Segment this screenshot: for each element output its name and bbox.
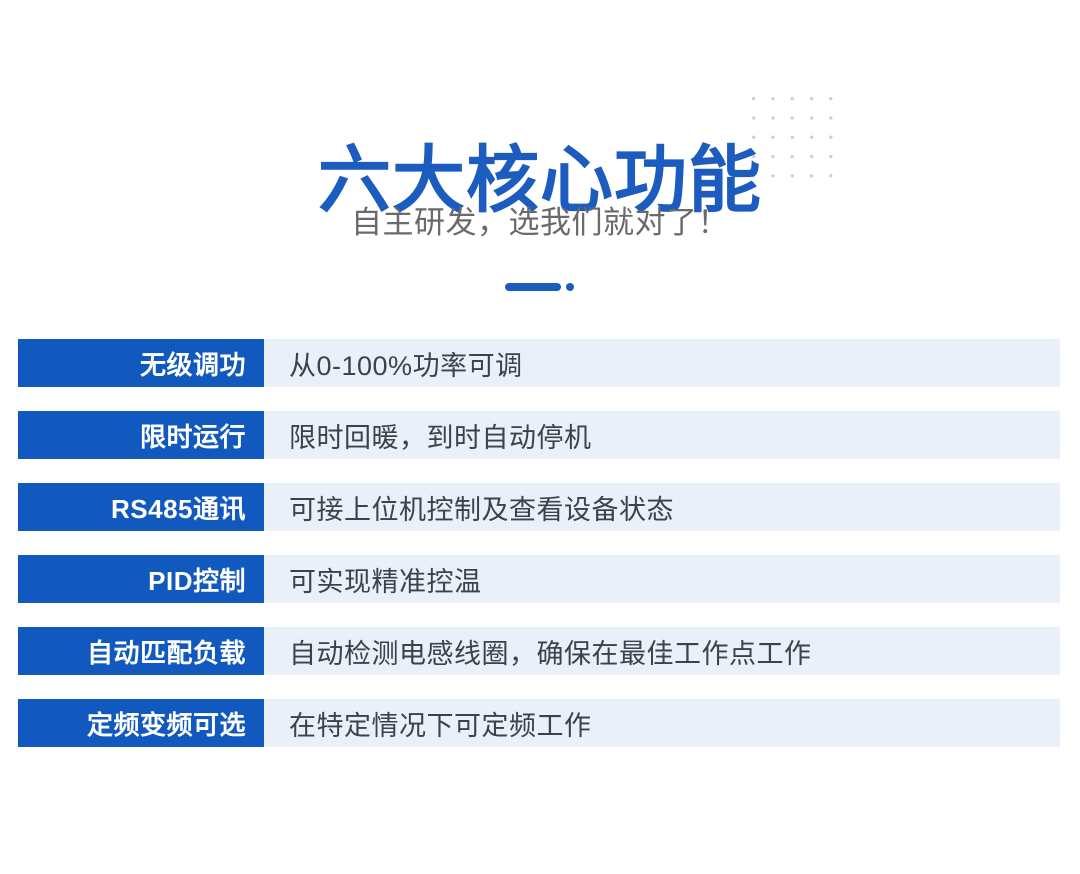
feature-description-3: 可接上位机控制及查看设备状态 (264, 483, 1060, 531)
feature-row-3: RS485通讯 可接上位机控制及查看设备状态 (18, 483, 1060, 531)
title-divider (0, 280, 1080, 294)
feature-highlight-page: 六大核心功能 自主研发，选我们就对了！ 无级调功 从0-100%功率可调 限时运… (0, 0, 1080, 874)
feature-list: 无级调功 从0-100%功率可调 限时运行 限时回暖，到时自动停机 RS485通… (0, 339, 1080, 771)
feature-label-3: RS485通讯 (18, 483, 264, 531)
feature-label-1: 无级调功 (18, 339, 264, 387)
divider-dot (566, 283, 574, 291)
feature-row-2: 限时运行 限时回暖，到时自动停机 (18, 411, 1060, 459)
divider-bar (505, 283, 561, 291)
feature-description-6: 在特定情况下可定频工作 (264, 699, 1060, 747)
feature-description-2: 限时回暖，到时自动停机 (264, 411, 1060, 459)
feature-row-5: 自动匹配负载 自动检测电感线圈，确保在最佳工作点工作 (18, 627, 1060, 675)
feature-label-2: 限时运行 (18, 411, 264, 459)
feature-label-4: PID控制 (18, 555, 264, 603)
page-subtitle: 自主研发，选我们就对了！ (0, 202, 1080, 244)
feature-description-1: 从0-100%功率可调 (264, 339, 1060, 387)
page-header: 六大核心功能 自主研发，选我们就对了！ (0, 0, 1080, 339)
feature-row-6: 定频变频可选 在特定情况下可定频工作 (18, 699, 1060, 747)
feature-label-6: 定频变频可选 (18, 699, 264, 747)
feature-label-5: 自动匹配负载 (18, 627, 264, 675)
feature-description-4: 可实现精准控温 (264, 555, 1060, 603)
feature-description-5: 自动检测电感线圈，确保在最佳工作点工作 (264, 627, 1060, 675)
feature-row-4: PID控制 可实现精准控温 (18, 555, 1060, 603)
feature-row-1: 无级调功 从0-100%功率可调 (18, 339, 1060, 387)
